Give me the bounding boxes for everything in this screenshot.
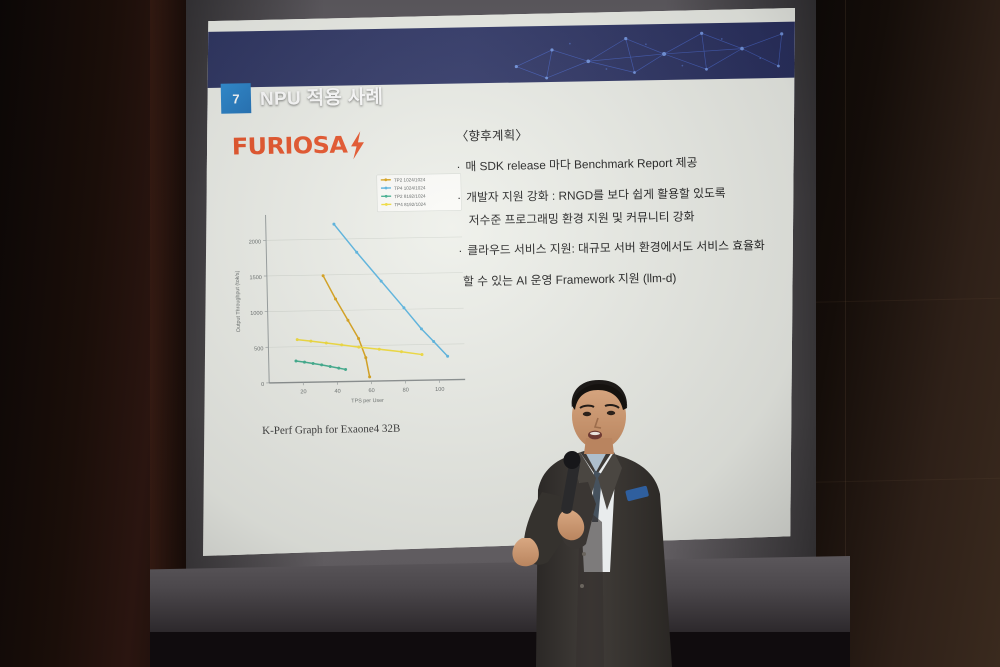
list-item: · 매 SDK release 마다 Benchmark Report 제공 bbox=[456, 152, 786, 176]
chart-series-line-1 bbox=[334, 222, 448, 358]
chart-gridline bbox=[267, 273, 463, 276]
x-axis-tick-label: 80 bbox=[403, 387, 409, 393]
chart-data-point bbox=[357, 346, 360, 349]
chart-data-point bbox=[344, 368, 347, 371]
presenter-figure bbox=[480, 372, 710, 667]
jacket-button bbox=[580, 584, 584, 588]
eye-right bbox=[607, 411, 615, 415]
list-item-text: 클라우드 서비스 지원: 대규모 서버 환경에서도 서비스 효율화 bbox=[467, 236, 765, 259]
x-axis-tick-label: 20 bbox=[300, 389, 306, 395]
lightning-bolt-icon bbox=[348, 131, 367, 159]
legend-label: TP4 1024/1024 bbox=[394, 185, 426, 191]
legend-label: TP2 1024/1024 bbox=[394, 177, 426, 183]
legend-label: TP2 8192/1024 bbox=[394, 194, 426, 200]
chart-data-point bbox=[303, 361, 306, 364]
chart-gridline bbox=[268, 344, 464, 347]
x-axis-label: TPS per User bbox=[351, 398, 384, 405]
slide-number-badge: 7 bbox=[221, 83, 252, 114]
neck bbox=[584, 438, 614, 454]
chart-gridline bbox=[268, 308, 464, 311]
chart-data-point bbox=[320, 363, 323, 366]
chart-data-point bbox=[309, 340, 312, 343]
bullet-marker: · bbox=[457, 189, 461, 207]
content-text-column: 〈향후계획〉 · 매 SDK release 마다 Benchmark Repo… bbox=[456, 120, 790, 291]
furiosa-logo: FURIOSA bbox=[234, 131, 367, 161]
slide-header-band bbox=[204, 22, 797, 88]
jacket-button bbox=[582, 552, 586, 556]
y-axis-tick-label: 1500 bbox=[249, 275, 262, 281]
chart-data-point bbox=[368, 375, 371, 378]
list-item-text: 매 SDK release 마다 Benchmark Report 제공 bbox=[465, 153, 697, 175]
microphone-head bbox=[564, 451, 581, 469]
chart-data-point bbox=[294, 360, 297, 363]
sub-text-line: 저수준 프로그래밍 환경 지원 및 커뮤니티 강화 bbox=[468, 205, 787, 229]
chart-gridline bbox=[266, 237, 462, 240]
eye-left bbox=[583, 412, 591, 416]
chart-data-point bbox=[420, 353, 423, 356]
list-item-text: 개발자 지원 강화 : RNGD를 보다 쉽게 활용할 있도록 bbox=[466, 184, 726, 207]
x-axis-tick-label: 40 bbox=[334, 389, 340, 395]
chart-svg: 050010001500200020406080100TPS per UserO… bbox=[225, 171, 478, 425]
network-constellation-graphic bbox=[505, 22, 796, 83]
x-axis-tick-label: 100 bbox=[435, 387, 444, 393]
chart-series-line-0 bbox=[323, 275, 370, 378]
y-axis-tick-label: 500 bbox=[254, 346, 263, 352]
chart-data-point bbox=[337, 367, 340, 370]
y-axis-tick-label: 0 bbox=[261, 382, 264, 388]
chart-data-point bbox=[325, 342, 328, 345]
chart-data-point bbox=[329, 365, 332, 368]
chart-data-point bbox=[296, 338, 299, 341]
stage-scene: 7 NPU 적용 사례 FURIOSA 05001000150020002040… bbox=[0, 0, 1000, 667]
performance-chart: 050010001500200020406080100TPS per UserO… bbox=[225, 171, 478, 425]
legend-label: TP4 8192/1024 bbox=[394, 202, 426, 208]
chart-caption: K-Perf Graph for Exaone4 32B bbox=[262, 423, 400, 437]
x-axis bbox=[269, 379, 465, 382]
bullet-marker: · bbox=[458, 241, 462, 259]
y-axis-tick-label: 1000 bbox=[250, 311, 263, 317]
furiosa-wordmark: FURIOSA bbox=[232, 133, 348, 161]
page-title: NPU 적용 사례 bbox=[260, 82, 384, 111]
list-item: · 클라우드 서비스 지원: 대규모 서버 환경에서도 서비스 효율화 bbox=[458, 236, 788, 260]
chart-data-point bbox=[312, 362, 315, 365]
chart-data-point bbox=[378, 348, 381, 351]
y-axis-label: Output Throughput (tok/s) bbox=[235, 270, 242, 332]
x-axis-tick-label: 60 bbox=[368, 388, 374, 394]
y-axis-tick-label: 2000 bbox=[249, 239, 262, 245]
bullet-marker: · bbox=[456, 158, 460, 176]
chart-data-point bbox=[400, 350, 403, 353]
